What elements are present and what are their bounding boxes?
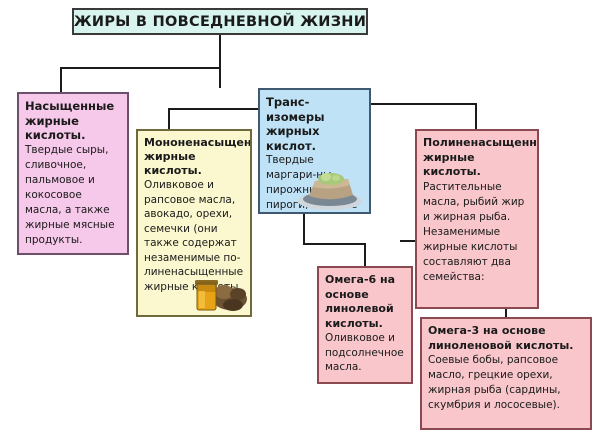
connector-trans-right-bus — [369, 103, 477, 105]
node-omega-3[interactable]: Омега-3 на основе линоленовой кислоты. С… — [420, 317, 592, 430]
node-mono-title: Мононенасыщенные жирные кислоты. — [144, 136, 244, 178]
node-omega3-title: Омега-3 на основе линоленовой кислоты. — [428, 324, 584, 353]
connector-to-mono — [168, 108, 170, 129]
cake-on-plate-icon — [293, 165, 367, 211]
connector-to-saturated — [60, 67, 62, 92]
connector-trans-down — [303, 214, 305, 244]
node-poly-body: Растительные масла, рыбий жир и жирная р… — [423, 180, 531, 285]
node-omega3-body: Соевые бобы, рапсовое масло, грецкие оре… — [428, 353, 584, 413]
diagram-title-box: ЖИРЫ В ПОВСЕДНЕВНОЙ ЖИЗНИ — [72, 8, 368, 35]
connector-to-poly — [475, 103, 477, 129]
connector-omega6-bus — [303, 243, 366, 245]
connector-trans-left-bus — [168, 108, 260, 110]
node-trans-title: Транс-изомеры жирных кислот. — [266, 95, 363, 153]
node-saturated-fatty-acids[interactable]: Насыщенные жирные кислоты. Твердые сыры,… — [17, 92, 129, 255]
node-polyunsaturated-fatty-acids[interactable]: Полиненасыщенные жирные кислоты. Растите… — [415, 129, 539, 309]
page-title: ЖИРЫ В ПОВСЕДНЕВНОЙ ЖИЗНИ — [74, 14, 366, 30]
node-monounsaturated-fatty-acids[interactable]: Мононенасыщенные жирные кислоты. Оливков… — [136, 129, 252, 317]
node-saturated-body: Твердые сыры, сливочное, пальмовое и кок… — [25, 143, 121, 248]
connector-to-omega6 — [364, 243, 366, 266]
connector-title-stem — [219, 35, 221, 68]
node-trans-isomers[interactable]: Транс-изомеры жирных кислот. Твердые мар… — [258, 88, 371, 214]
node-omega6-body: Оливковое и подсолнечное масла. — [325, 331, 405, 375]
node-poly-title: Полиненасыщенные жирные кислоты. — [423, 136, 531, 180]
diagram-canvas: ЖИРЫ В ПОВСЕДНЕВНОЙ ЖИЗНИ Насыщенные жир… — [0, 0, 600, 438]
node-omega6-title: Омега-6 на основе линолевой кислоты. — [325, 273, 405, 331]
connector-top-bus — [60, 67, 221, 69]
oil-jar-with-nuts-icon — [186, 277, 248, 313]
node-saturated-title: Насыщенные жирные кислоты. — [25, 99, 121, 143]
node-omega-6[interactable]: Омега-6 на основе линолевой кислоты. Оли… — [317, 266, 413, 384]
connector-to-trans — [219, 67, 221, 88]
connector-poly-down — [505, 309, 507, 317]
